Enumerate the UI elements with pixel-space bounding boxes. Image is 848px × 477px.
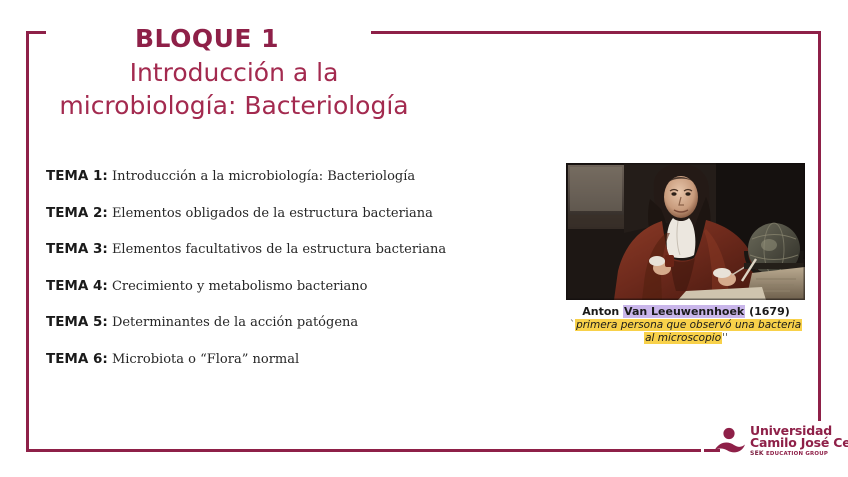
topic-text: Microbiota o “Flora” normal (108, 352, 299, 367)
frame-top-left-stub (26, 31, 46, 34)
block-title: BLOQUE 1 (135, 24, 279, 53)
list-item: TEMA 1: Introducción a la microbiología:… (46, 168, 546, 184)
logo-line-2: Camilo José Cela (750, 437, 848, 450)
frame-right-line (818, 31, 821, 421)
topic-label: TEMA 1: (46, 168, 108, 184)
caption-name-highlighted: Van Leeuwennhoek (623, 305, 745, 318)
topic-text: Elementos obligados de la estructura bac… (108, 206, 433, 221)
caption-quote-text-1: primera persona que observó una bacteria (575, 319, 802, 331)
topic-label: TEMA 2: (46, 205, 108, 221)
caption-quote-line: `primera persona que observó una bacteri… (560, 319, 812, 345)
university-logo: Universidad Camilo José Cela SEK EDUCATI… (714, 423, 840, 459)
list-item: TEMA 5: Determinantes de la acción patóg… (46, 314, 546, 330)
slide-root: BLOQUE 1 Introducción a la microbiología… (0, 0, 848, 477)
topic-list: TEMA 1: Introducción a la microbiología:… (46, 168, 546, 387)
topic-text: Determinantes de la acción patógena (108, 315, 358, 330)
topic-label: TEMA 6: (46, 351, 108, 367)
portrait-image (566, 163, 805, 300)
topic-text: Introducción a la microbiología: Bacteri… (108, 169, 415, 184)
topic-label: TEMA 4: (46, 278, 108, 294)
topic-text: Crecimiento y metabolismo bacteriano (108, 279, 368, 294)
caption-year: (1679) (745, 305, 790, 318)
list-item: TEMA 2: Elementos obligados de la estruc… (46, 205, 546, 221)
person-swoosh-icon (714, 426, 746, 456)
caption-quote-text-2: al microscopio (644, 332, 722, 344)
caption-name-line: Anton Van Leeuwennhoek (1679) (560, 305, 812, 318)
caption-name-prefix: Anton (582, 305, 623, 318)
frame-top-right-line (371, 31, 821, 34)
logo-sek-mark: SEK (750, 450, 764, 457)
list-item: TEMA 3: Elementos facultativos de la est… (46, 241, 546, 257)
logo-wordmark: Universidad Camilo José Cela SEK EDUCATI… (750, 425, 848, 458)
topic-label: TEMA 5: (46, 314, 108, 330)
list-item: TEMA 4: Crecimiento y metabolismo bacter… (46, 278, 546, 294)
topic-label: TEMA 3: (46, 241, 108, 257)
logo-group-line: SEK EDUCATION GROUP (750, 451, 848, 458)
figure-caption: Anton Van Leeuwennhoek (1679) `primera p… (560, 305, 812, 345)
portrait-illustration (566, 163, 805, 300)
logo-group-text: EDUCATION GROUP (764, 451, 828, 457)
frame-bottom-line (26, 449, 701, 452)
slide-subtitle: Introducción a la microbiología: Bacteri… (24, 56, 444, 122)
list-item: TEMA 6: Microbiota o “Flora” normal (46, 351, 546, 367)
topic-text: Elementos facultativos de la estructura … (108, 242, 446, 257)
quote-close-mark: '' (722, 332, 728, 344)
